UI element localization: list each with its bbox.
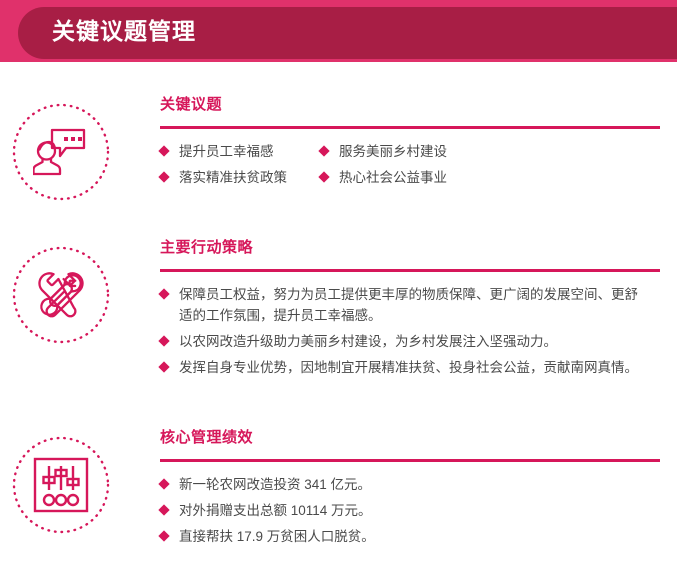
- section-heading: 主要行动策略: [160, 238, 665, 258]
- icon-badge-core-management-performance: [12, 436, 110, 534]
- diamond-bullet-icon: [158, 361, 169, 372]
- list-item-label: 直接帮扶 17.9 万贫困人口脱贫。: [179, 526, 651, 547]
- list-item-label: 新一轮农网改造投资 341 亿元。: [179, 474, 651, 495]
- section-body-key-issues: 关键议题 提升员工幸福感 服务美丽乡村建设: [160, 95, 665, 193]
- bullet-list-key-issues: 提升员工幸福感 服务美丽乡村建设 落实精准扶贫政策: [160, 141, 665, 188]
- list-item-label: 服务美丽乡村建设: [339, 141, 447, 162]
- list-item: 发挥自身专业优势，因地制宜开展精准扶贫、投身社会公益，贡献南网真情。: [160, 357, 665, 378]
- list-item: 直接帮扶 17.9 万贫困人口脱贫。: [160, 526, 665, 547]
- diamond-bullet-icon: [158, 504, 169, 515]
- sliders-icon: [33, 457, 89, 513]
- page-header-banner: 关键议题管理: [0, 0, 677, 62]
- list-item-cell: 热心社会公益事业: [320, 167, 665, 188]
- list-item-label: 以农网改造升级助力美丽乡村建设，为乡村发展注入坚强动力。: [179, 331, 651, 352]
- person-speech-bubble-icon: [33, 124, 89, 180]
- page-title: 关键议题管理: [52, 0, 196, 62]
- section-divider: [160, 269, 660, 272]
- diamond-bullet-icon: [318, 171, 329, 182]
- list-item-label: 热心社会公益事业: [339, 167, 447, 188]
- section-divider: [160, 126, 660, 129]
- icon-badge-main-action-strategy: [12, 246, 110, 344]
- list-item: 落实精准扶贫政策 热心社会公益事业: [160, 167, 665, 188]
- section-body-main-action-strategy: 主要行动策略 保障员工权益，努力为员工提供更丰厚的物质保障、更广阔的发展空间、更…: [160, 238, 665, 383]
- section-heading: 关键议题: [160, 95, 665, 115]
- diamond-bullet-icon: [318, 145, 329, 156]
- list-item-label: 发挥自身专业优势，因地制宜开展精准扶贫、投身社会公益，贡献南网真情。: [179, 357, 651, 378]
- list-item-cell: 提升员工幸福感: [160, 141, 320, 162]
- list-item: 以农网改造升级助力美丽乡村建设，为乡村发展注入坚强动力。: [160, 331, 665, 352]
- crossed-wrenches-icon: [33, 267, 89, 323]
- list-item-label: 对外捐赠支出总额 10114 万元。: [179, 500, 651, 521]
- icon-badge-key-issues: [12, 103, 110, 201]
- list-item: 保障员工权益，努力为员工提供更丰厚的物质保障、更广阔的发展空间、更舒适的工作氛围…: [160, 284, 665, 326]
- list-item-cell: 服务美丽乡村建设: [320, 141, 665, 162]
- section-body-core-management-performance: 核心管理绩效 新一轮农网改造投资 341 亿元。 对外捐赠支出总额 10114 …: [160, 428, 665, 552]
- diamond-bullet-icon: [158, 335, 169, 346]
- list-item-label: 保障员工权益，努力为员工提供更丰厚的物质保障、更广阔的发展空间、更舒适的工作氛围…: [179, 284, 651, 326]
- diamond-bullet-icon: [158, 530, 169, 541]
- list-item: 对外捐赠支出总额 10114 万元。: [160, 500, 665, 521]
- bullet-list-core-management-performance: 新一轮农网改造投资 341 亿元。 对外捐赠支出总额 10114 万元。 直接帮…: [160, 474, 665, 547]
- list-item-label: 落实精准扶贫政策: [179, 167, 287, 188]
- bullet-list-main-action-strategy: 保障员工权益，努力为员工提供更丰厚的物质保障、更广阔的发展空间、更舒适的工作氛围…: [160, 284, 665, 378]
- diamond-bullet-icon: [158, 478, 169, 489]
- list-item-cell: 落实精准扶贫政策: [160, 167, 320, 188]
- diamond-bullet-icon: [158, 145, 169, 156]
- list-item: 提升员工幸福感 服务美丽乡村建设: [160, 141, 665, 162]
- section-heading: 核心管理绩效: [160, 428, 665, 448]
- list-item-label: 提升员工幸福感: [179, 141, 274, 162]
- list-item: 新一轮农网改造投资 341 亿元。: [160, 474, 665, 495]
- section-divider: [160, 459, 660, 462]
- diamond-bullet-icon: [158, 288, 169, 299]
- diamond-bullet-icon: [158, 171, 169, 182]
